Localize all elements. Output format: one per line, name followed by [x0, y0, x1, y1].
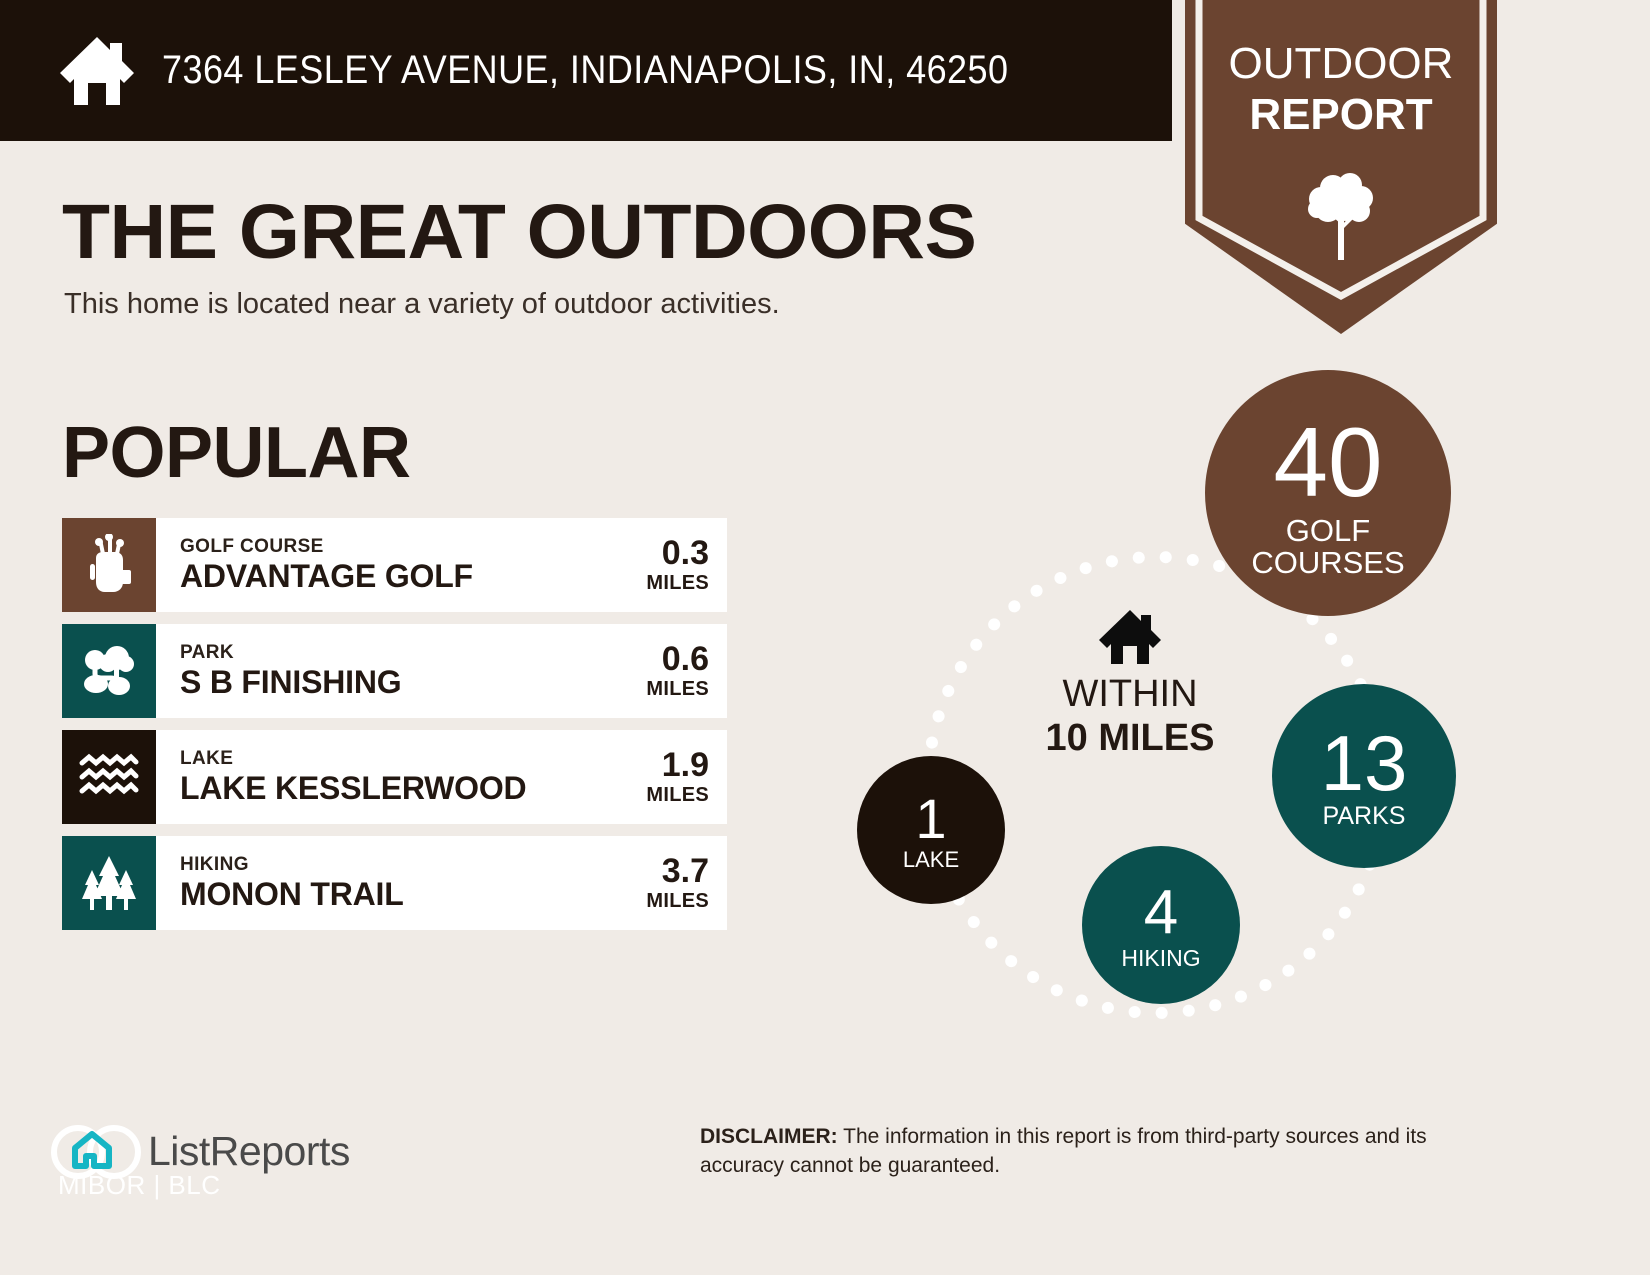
- distance-value: 3.7: [662, 853, 709, 889]
- mls-label: MIBOR | BLC: [58, 1170, 221, 1201]
- list-item-text: GOLF COURSE ADVANTAGE GOLF: [156, 518, 589, 612]
- badge-line-2: REPORT: [1185, 89, 1497, 140]
- bubble-parks[interactable]: 13 PARKS: [1272, 684, 1456, 868]
- distance-unit: MILES: [646, 889, 709, 913]
- page-title: THE GREAT OUTDOORS: [62, 188, 976, 277]
- section-title-popular: POPULAR: [62, 412, 411, 494]
- list-item-text: LAKE LAKE KESSLERWOOD: [156, 730, 589, 824]
- outdoor-report-badge: OUTDOOR REPORT: [1185, 0, 1497, 334]
- header-bar: 7364 LESLEY AVENUE, INDIANAPOLIS, IN, 46…: [0, 0, 1172, 141]
- logo-wordmark: ListReports: [148, 1128, 350, 1175]
- list-item[interactable]: HIKING MONON TRAIL 3.7 MILES: [62, 836, 727, 930]
- bubble-label: HIKING: [1121, 947, 1200, 970]
- list-item-name: MONON TRAIL: [180, 876, 589, 912]
- list-item[interactable]: LAKE LAKE KESSLERWOOD 1.9 MILES: [62, 730, 727, 824]
- list-item[interactable]: GOLF COURSE ADVANTAGE GOLF 0.3 MILES: [62, 518, 727, 612]
- park-trees-icon: [62, 624, 156, 718]
- list-item-category: LAKE: [180, 748, 589, 770]
- center-line-2: 10 MILES: [1005, 716, 1255, 760]
- list-item-name: S B FINISHING: [180, 664, 589, 700]
- distance-value: 0.3: [662, 535, 709, 571]
- outdoor-report-page: 7364 LESLEY AVENUE, INDIANAPOLIS, IN, 46…: [0, 0, 1650, 1275]
- distance-unit: MILES: [646, 783, 709, 807]
- disclaimer-label: DISCLAIMER:: [700, 1125, 838, 1148]
- list-item-distance: 3.7 MILES: [589, 836, 727, 930]
- house-icon: [1097, 608, 1163, 666]
- bubble-value: 1: [915, 792, 946, 845]
- popular-list: GOLF COURSE ADVANTAGE GOLF 0.3 MILES: [62, 518, 727, 942]
- tree-icon: [1303, 168, 1379, 264]
- distance-value: 1.9: [662, 747, 709, 783]
- property-address: 7364 LESLEY AVENUE, INDIANAPOLIS, IN, 46…: [162, 48, 1008, 93]
- diagram-center-label: WITHIN 10 MILES: [1005, 608, 1255, 760]
- list-item-name: LAKE KESSLERWOOD: [180, 770, 589, 806]
- list-item-text: HIKING MONON TRAIL: [156, 836, 589, 930]
- center-line-1: WITHIN: [1005, 672, 1255, 716]
- list-item-category: HIKING: [180, 854, 589, 876]
- golf-bag-icon: [62, 518, 156, 612]
- water-waves-icon: [62, 730, 156, 824]
- badge-title: OUTDOOR REPORT: [1185, 38, 1497, 140]
- list-item-name: ADVANTAGE GOLF: [180, 558, 589, 594]
- distance-value: 0.6: [662, 641, 709, 677]
- list-item[interactable]: PARK S B FINISHING 0.6 MILES: [62, 624, 727, 718]
- list-item-category: GOLF COURSE: [180, 536, 589, 558]
- page-subtitle: This home is located near a variety of o…: [64, 288, 780, 321]
- bubble-lake[interactable]: 1 LAKE: [857, 756, 1005, 904]
- list-item-text: PARK S B FINISHING: [156, 624, 589, 718]
- list-item-distance: 0.6 MILES: [589, 624, 727, 718]
- bubble-value: 4: [1144, 884, 1178, 943]
- within-10-miles-diagram: 40 GOLF COURSES 13 PARKS 4 HIKING 1 LAKE…: [820, 350, 1520, 1050]
- bubble-value: 13: [1321, 726, 1408, 800]
- bubble-hiking[interactable]: 4 HIKING: [1082, 846, 1240, 1004]
- house-icon: [58, 35, 136, 107]
- distance-unit: MILES: [646, 571, 709, 595]
- pine-trees-icon: [62, 836, 156, 930]
- list-item-distance: 0.3 MILES: [589, 518, 727, 612]
- bubble-label: GOLF COURSES: [1205, 515, 1451, 578]
- bubble-value: 40: [1273, 416, 1382, 509]
- list-item-distance: 1.9 MILES: [589, 730, 727, 824]
- bubble-label: LAKE: [903, 849, 959, 871]
- bubble-golf-courses[interactable]: 40 GOLF COURSES: [1205, 370, 1451, 616]
- disclaimer: DISCLAIMER: The information in this repo…: [700, 1122, 1510, 1180]
- bubble-label: PARKS: [1323, 804, 1406, 830]
- listreports-logo: ListReports MIBOR | BLC: [48, 1112, 348, 1212]
- list-item-category: PARK: [180, 642, 589, 664]
- badge-line-1: OUTDOOR: [1229, 39, 1454, 88]
- distance-unit: MILES: [646, 677, 709, 701]
